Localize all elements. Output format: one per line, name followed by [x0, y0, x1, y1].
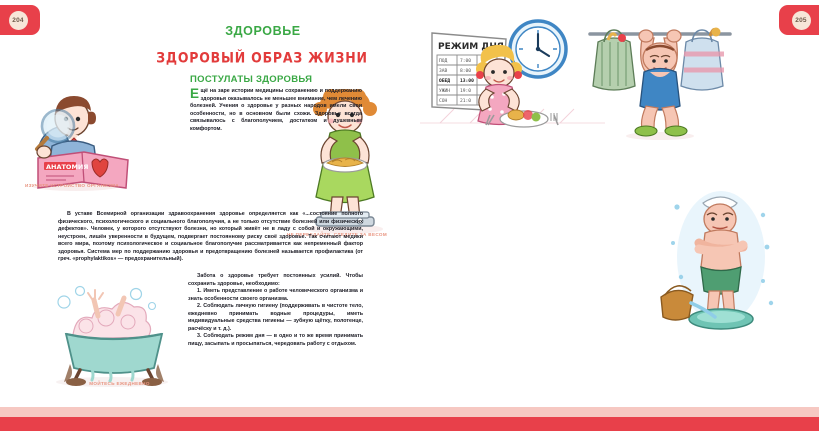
- intro-paragraph-column: Ещё на заре истории медицины сохранению …: [190, 88, 362, 133]
- subsection-title: ПОСТУЛАТЫ ЗДОРОВЬЯ: [190, 74, 312, 85]
- paragraph-3: Забота о здоровье требует постоянных уси…: [188, 273, 363, 288]
- left-page: 204 ЗДОРОВЬЕ ЗДОРОВЫЙ ОБРАЗ ЖИЗНИ ПОСТУЛ…: [0, 0, 410, 431]
- illustration-boy-with-magnifier: АНАТОМИЯ: [20, 92, 140, 192]
- rule-item-2: 2. Соблюдать личную гигиену (поддерживат…: [188, 303, 363, 333]
- page-number-left: 204: [9, 11, 28, 30]
- caption-wash-daily: МОЙТЕСЬ ЕЖЕДНЕВНО: [52, 381, 187, 387]
- svg-text:ЗАВ: ЗАВ: [439, 68, 448, 74]
- bottom-pink-bar: [0, 407, 819, 417]
- svg-text:8:00: 8:00: [460, 68, 471, 74]
- rule-item-1: 1. Иметь представление о работе человече…: [188, 288, 363, 303]
- svg-text:УЖИН: УЖИН: [439, 88, 450, 94]
- book-title-label: АНАТОМИЯ: [46, 163, 88, 171]
- svg-text:21:0: 21:0: [460, 98, 471, 104]
- right-page: 205 РЕЖИМ ДНЯ ПОД7:00 ЗАВ8:00 ОБЕД13:00: [410, 0, 819, 431]
- illustration-child-in-bathtub: [40, 282, 190, 387]
- term-prophylaxis: профилактика: [315, 249, 353, 255]
- svg-text:СОН: СОН: [439, 98, 448, 104]
- svg-text:ПОД: ПОД: [439, 58, 448, 64]
- illustration-hardening-man: [655, 185, 795, 335]
- illustration-girl-daily-routine: РЕЖИМ ДНЯ ПОД7:00 ЗАВ8:00 ОБЕД13:00 УЖИН…: [420, 15, 605, 140]
- illustration-weightlifter: [580, 12, 740, 140]
- svg-text:13:00: 13:00: [460, 78, 474, 84]
- paragraph-1-text: щё на заре истории медицины сохранению и…: [190, 88, 362, 132]
- caption-study-body: ИЗУЧИТЕ УСТРОЙСТВО ОРГАНИЗМА: [12, 183, 132, 189]
- svg-text:19:0: 19:0: [460, 88, 471, 94]
- paragraph-2: В уставе Всемирной организации здравоохр…: [58, 211, 363, 264]
- svg-text:7:00: 7:00: [460, 58, 471, 64]
- page-number-right: 205: [792, 11, 811, 30]
- book-spread: 204 ЗДОРОВЬЕ ЗДОРОВЫЙ ОБРАЗ ЖИЗНИ ПОСТУЛ…: [0, 0, 819, 431]
- drop-cap: Е: [190, 88, 201, 99]
- rules-list-column: Забота о здоровье требует постоянных уси…: [188, 273, 363, 348]
- page-number-tab-left: 204: [0, 5, 40, 35]
- svg-text:ОБЕД: ОБЕД: [439, 78, 450, 84]
- page-title: ЗДОРОВЬЕ: [163, 24, 363, 38]
- paragraph-1: Ещё на заре истории медицины сохранению …: [190, 88, 362, 133]
- who-paragraph-column: В уставе Всемирной организации здравоохр…: [58, 211, 363, 264]
- section-title: ЗДОРОВЫЙ ОБРАЗ ЖИЗНИ: [152, 49, 372, 66]
- rule-item-3: 3. Соблюдать режим дня — в одно и то же …: [188, 333, 363, 348]
- bottom-red-bar: [0, 417, 819, 431]
- page-number-tab-right: 205: [779, 5, 819, 35]
